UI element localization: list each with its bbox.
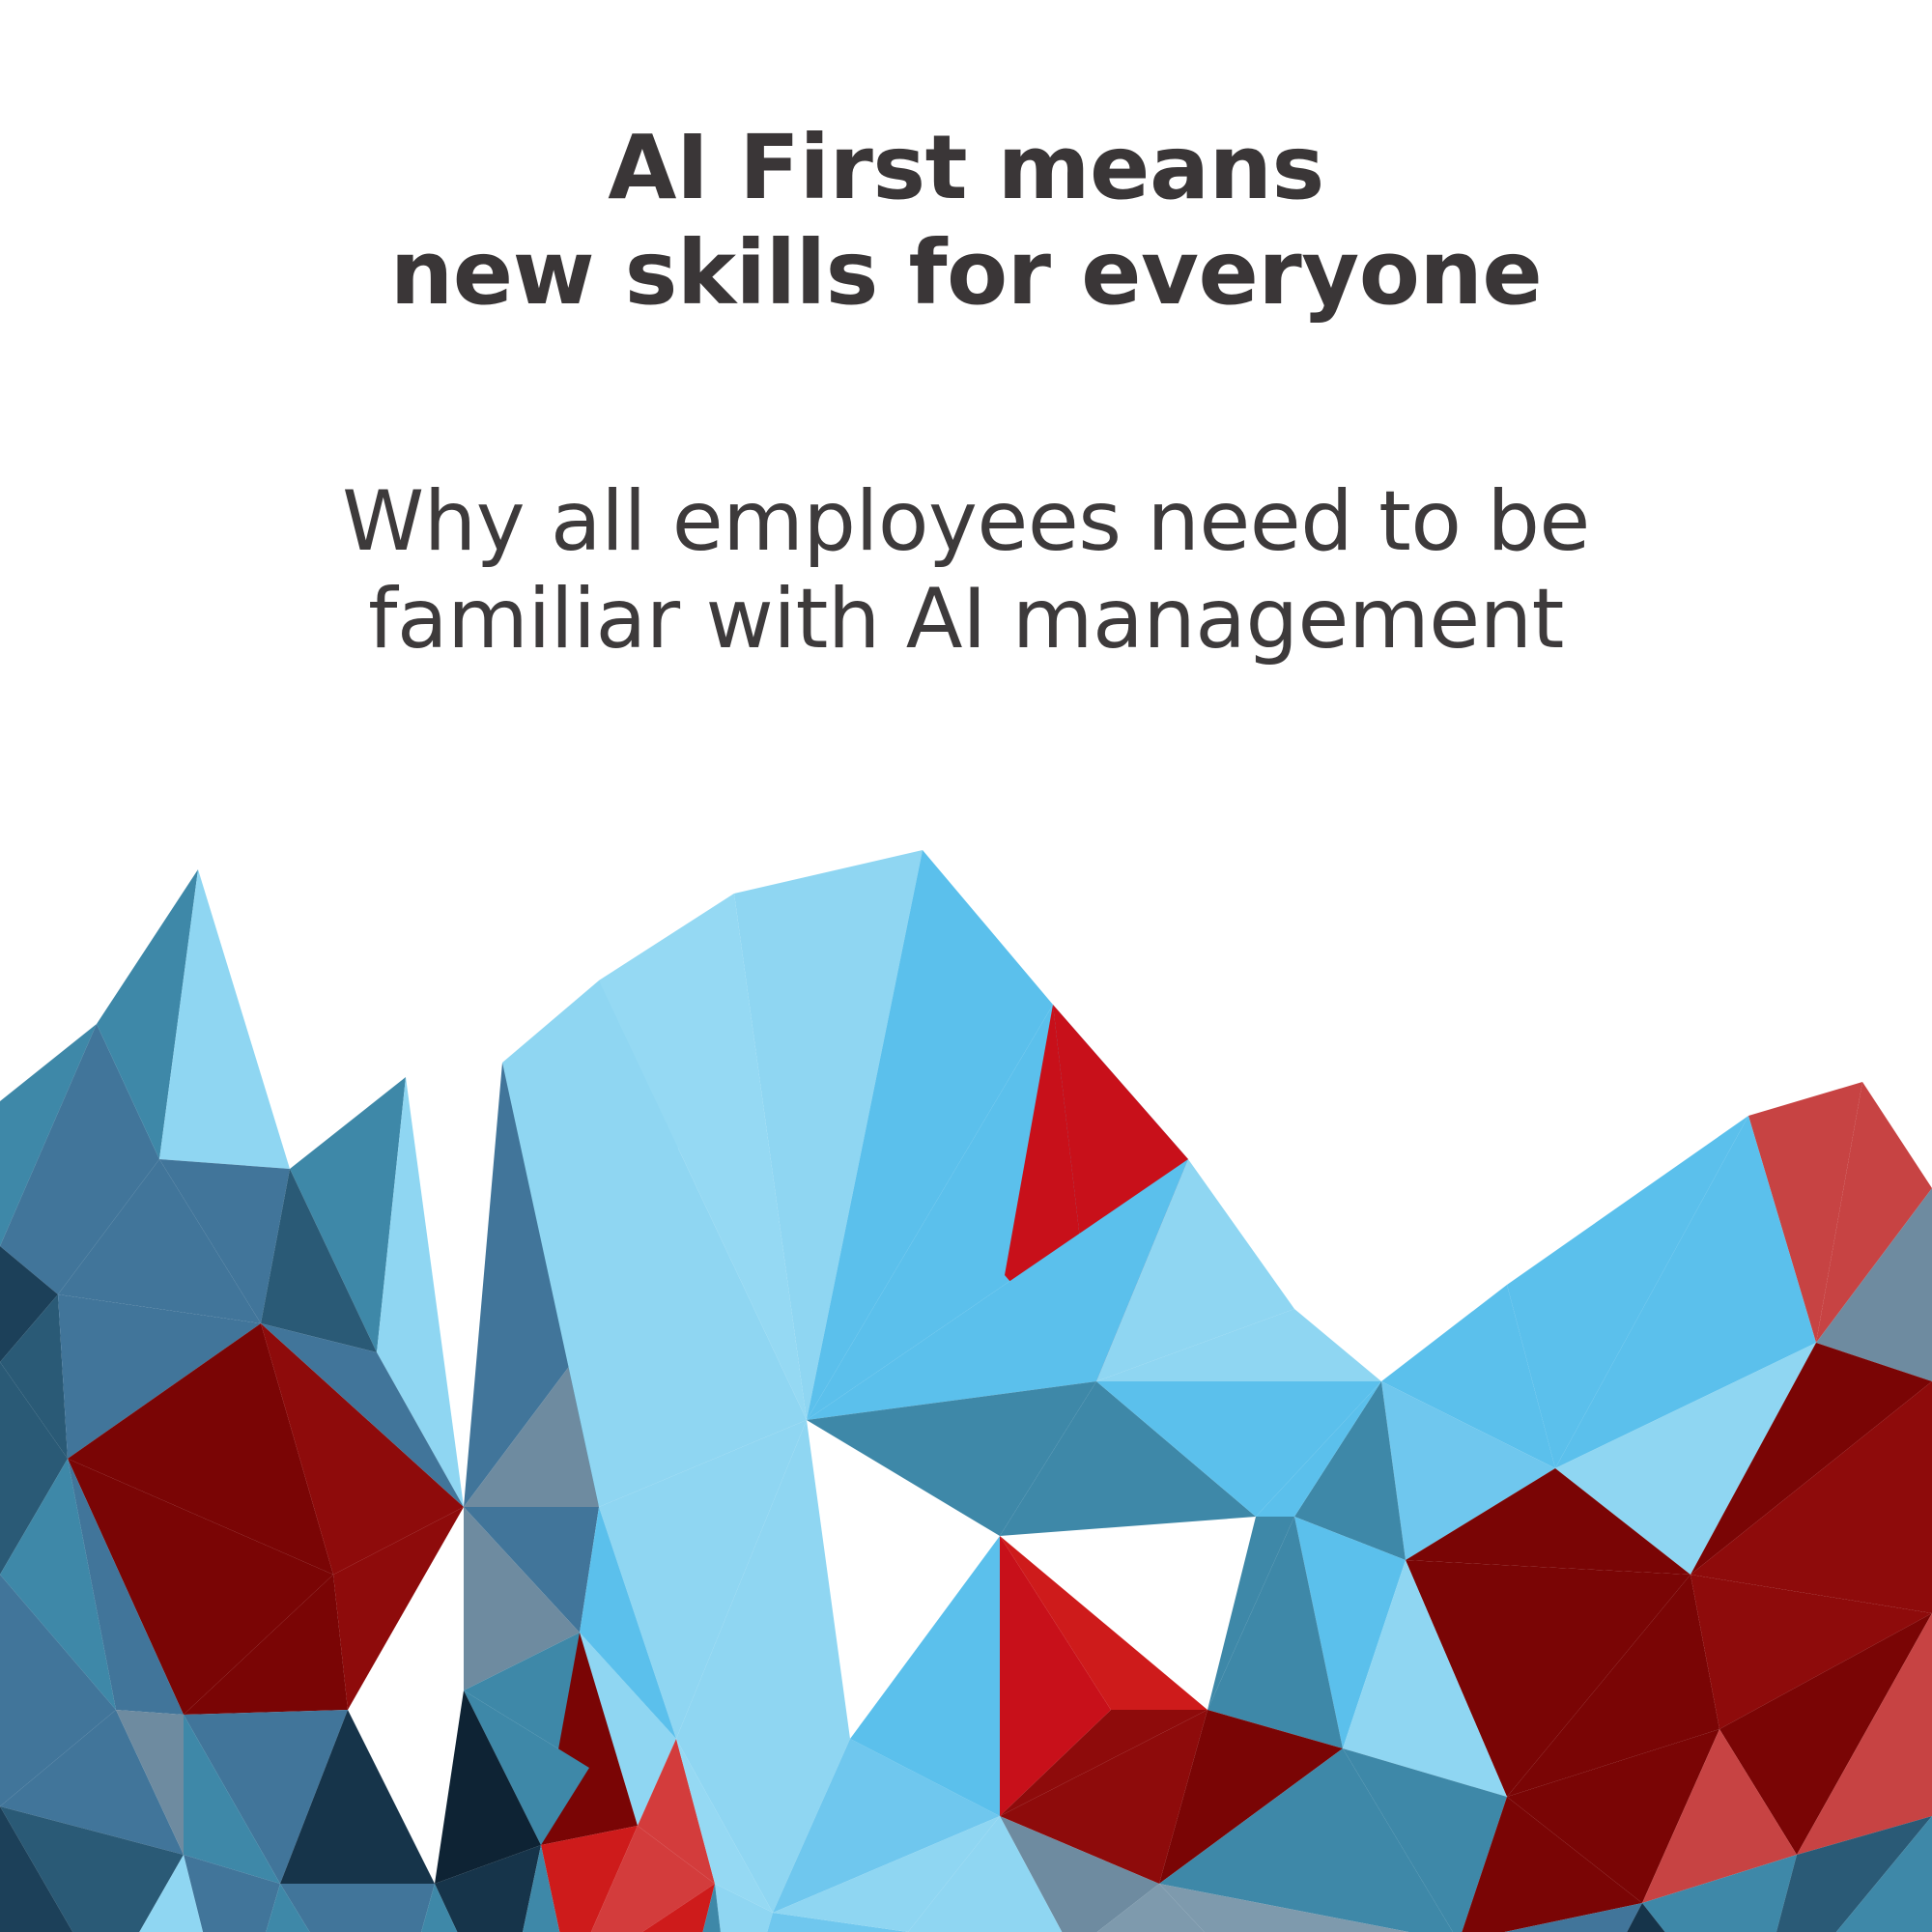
page-title: AI First means new skills for everyone — [0, 116, 1932, 326]
page-subtitle-line-1: Why all employees need to be — [0, 473, 1932, 571]
low-poly-mountain-graphic — [0, 840, 1932, 1932]
page-title-line-1: AI First means — [0, 116, 1932, 221]
page-subtitle-line-2: familiar with AI management — [0, 571, 1932, 668]
page-title-line-2: new skills for everyone — [0, 221, 1932, 327]
mountain-facets — [0, 850, 1932, 1932]
slide-canvas: AI First means new skills for everyone W… — [0, 0, 1932, 1932]
page-subtitle: Why all employees need to be familiar wi… — [0, 473, 1932, 668]
